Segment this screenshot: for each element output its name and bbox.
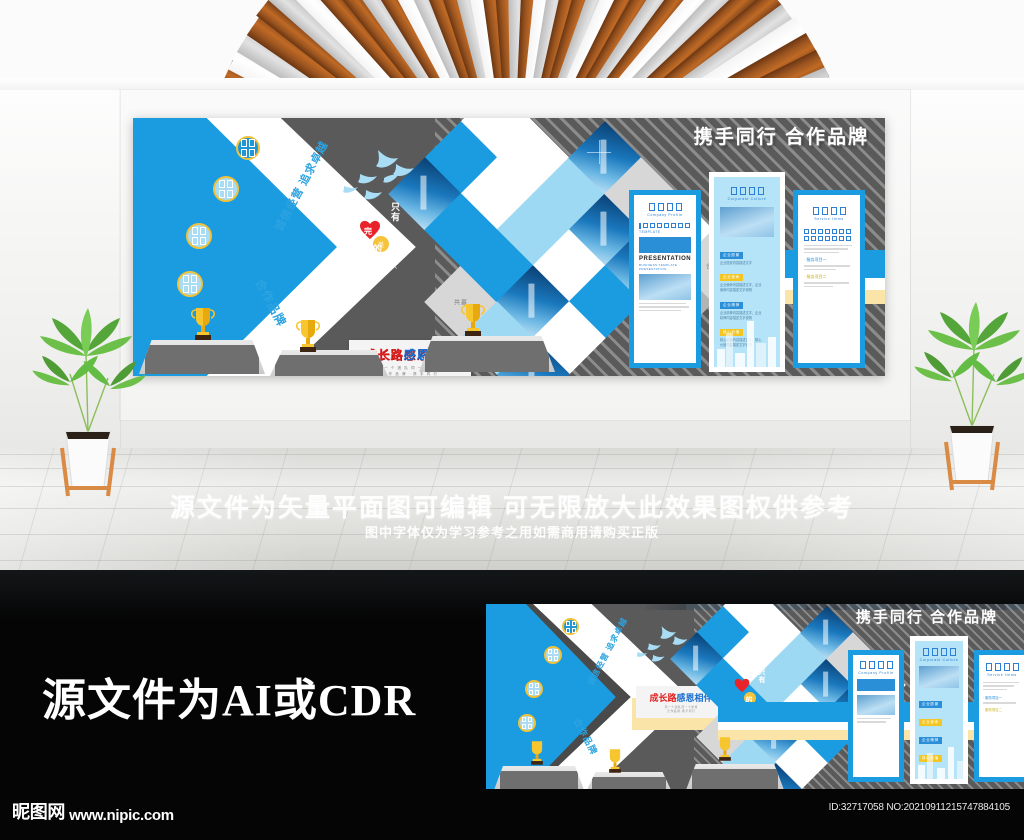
- floor-grout-line: [0, 560, 1024, 561]
- watermark-line-1: 源文件为矢量平面图可编辑 可无限放大此效果图权供参考: [0, 488, 1024, 524]
- panel-title-block: Corporate Culture: [714, 187, 780, 201]
- floor-grout-line: [0, 486, 1024, 487]
- preview-rollup-2: Corporate Culture 企业愿景 企业使命 企业精神 核心价值: [910, 636, 968, 784]
- panel-body: Service Items · 服务项目一 · 服务项目二: [798, 195, 860, 363]
- panel-section-2: · 服务项目二: [804, 274, 854, 280]
- slogan-line-2: 的团队: [371, 244, 384, 274]
- panel-skyline: [798, 305, 860, 363]
- trophy-shelf-2: [269, 350, 389, 376]
- panel-chip: 企业愿景: [720, 252, 743, 259]
- panel-title-block: Service Items: [798, 207, 860, 221]
- badge-4[interactable]: [177, 271, 203, 297]
- preview-quote-a: 成长路: [649, 693, 676, 703]
- potted-palm-right: [912, 276, 1024, 506]
- trophy-icon: [458, 300, 488, 340]
- panel-photo: [639, 274, 691, 300]
- screenshot-root: 携手同行 合作品牌 诚信经营 追求卓越 合作品牌: [0, 0, 1024, 840]
- rollup-panel-service-items[interactable]: Service Items · 服务项目一 · 服务项目二: [793, 190, 865, 368]
- preview-shelf: [586, 772, 672, 789]
- preview-rollup-1: Company Profile: [848, 650, 904, 782]
- slogan-line-3: 没有完美的个人: [391, 228, 398, 270]
- preview-badge: [518, 714, 536, 732]
- panel-chip-body: 企业愿景内容描述文字: [720, 261, 774, 266]
- panel-chip-body: 企业使命内容描述文字，企业使命内容描述文字说明: [720, 283, 774, 293]
- panel-bar-rows: [804, 229, 854, 241]
- site-url: www.nipic.com: [69, 807, 174, 824]
- preview-shelf: [494, 766, 584, 789]
- preview-heart-icon: [734, 678, 750, 693]
- preview-section-2: · 服务项目二: [983, 707, 1021, 712]
- badge-glyph: [241, 139, 255, 157]
- preview-panel-en-2: Corporate Culture: [915, 658, 963, 662]
- trophy-shelf-3: [419, 336, 555, 372]
- artboard-preview[interactable]: 携手同行 合作品牌 诚信经营 追求卓越 合作品牌 成长路感恩相伴: [486, 604, 1024, 789]
- preview-rollup-3: Service Items · 服务项目一 · 服务项目二: [974, 650, 1024, 782]
- badge-glyph: [183, 275, 197, 293]
- panel-title-block: Company Profile: [634, 203, 696, 217]
- badge-3[interactable]: [186, 223, 212, 249]
- panel-section-caption: PRESENTATION: [639, 256, 691, 262]
- panel-title-en: Service Items: [798, 217, 860, 221]
- panel-skyline: [714, 305, 780, 367]
- panel-chip-row: [639, 223, 691, 229]
- badge-glyph: [219, 180, 233, 198]
- rollup-panel-corporate-culture[interactable]: Corporate Culture 企业愿景 企业愿景内容描述文字 企业使命 企…: [709, 172, 785, 372]
- preview-trophy-icon: [714, 734, 736, 764]
- preview-panel-en-1: Company Profile: [853, 671, 899, 675]
- wall-seam-right: [910, 90, 911, 450]
- preview-section-1: · 服务项目一: [983, 695, 1021, 700]
- panel-text-lines: [804, 282, 854, 287]
- panel-title-en: Company Profile: [634, 213, 696, 217]
- heart-word: 完: [364, 226, 372, 237]
- trophy-shelf-1: [139, 340, 265, 374]
- panel-title-cn-glyphs: [714, 187, 780, 195]
- source-format-text: 源文件为AI或CDR: [42, 664, 416, 728]
- diamond-mark: 0.0: [494, 120, 500, 125]
- trophy-icon: [188, 304, 218, 344]
- panel-title-cn-glyphs: [798, 207, 860, 215]
- panel-text-lines: [804, 265, 854, 270]
- panel-title-en: Corporate Culture: [714, 197, 780, 201]
- panel-blue-block: [639, 237, 691, 253]
- site-logo: 昵图网: [12, 798, 65, 824]
- panel-photo: [720, 207, 774, 237]
- wall-graphic-artboard: 携手同行 合作品牌 诚信经营 追求卓越 合作品牌: [133, 118, 885, 376]
- floor-grout-line: [0, 454, 1024, 455]
- panel-bar-glyphs: [643, 223, 690, 228]
- potted-palm-left: [28, 282, 148, 512]
- panel-body: Corporate Culture 企业愿景 企业愿景内容描述文字 企业使命 企…: [714, 177, 780, 367]
- panel-title-cn-glyphs: [634, 203, 696, 211]
- slogan-line-1: 只有: [389, 202, 402, 222]
- badge-1[interactable]: [236, 136, 260, 160]
- preview-badge: [562, 618, 579, 635]
- panel-skyline: [634, 305, 696, 363]
- preview-trophy-icon: [526, 738, 548, 768]
- trophy-icon: [293, 316, 323, 356]
- badge-2[interactable]: [213, 176, 239, 202]
- panel-section-sub: BUSINESS TEMPLATE PRESENTATION: [639, 263, 691, 271]
- preview-slogan-1: 只有: [756, 668, 766, 684]
- preview-badge: [544, 646, 562, 664]
- image-id-label: ID:32717058 NO:20210911215747884105: [829, 802, 1010, 813]
- panel-text-lines: [804, 245, 854, 254]
- panel-section-1: · 服务项目一: [804, 257, 854, 263]
- preview-trophy-icon: [604, 746, 626, 776]
- badge-glyph: [192, 227, 206, 245]
- panel-chip: 企业使命: [720, 274, 743, 281]
- watermark-line-2: 图中字体仅为学习参考之用如需商用请购买正版: [0, 522, 1024, 541]
- site-branding: 昵图网 www.nipic.com: [12, 798, 174, 824]
- panel-body: Company Profile TEMPLATE PRESENTATION BU…: [634, 195, 696, 363]
- center-slogan-group: 完 美 只有 的团队 没有完美的个人: [359, 206, 429, 286]
- diamond-mark: 0.0: [566, 336, 572, 341]
- preview-badge: [525, 680, 543, 698]
- floor-grout-line: [0, 468, 1024, 469]
- diamond-mark: 1000: [493, 192, 502, 197]
- rollup-panel-company-profile[interactable]: Company Profile TEMPLATE PRESENTATION BU…: [629, 190, 701, 368]
- room-scene: 携手同行 合作品牌 诚信经营 追求卓越 合作品牌: [0, 0, 1024, 570]
- preview-panel-en-3: Service Items: [979, 673, 1024, 677]
- panel-chip-label: TEMPLATE: [639, 230, 691, 234]
- preview-shelf: [686, 764, 784, 789]
